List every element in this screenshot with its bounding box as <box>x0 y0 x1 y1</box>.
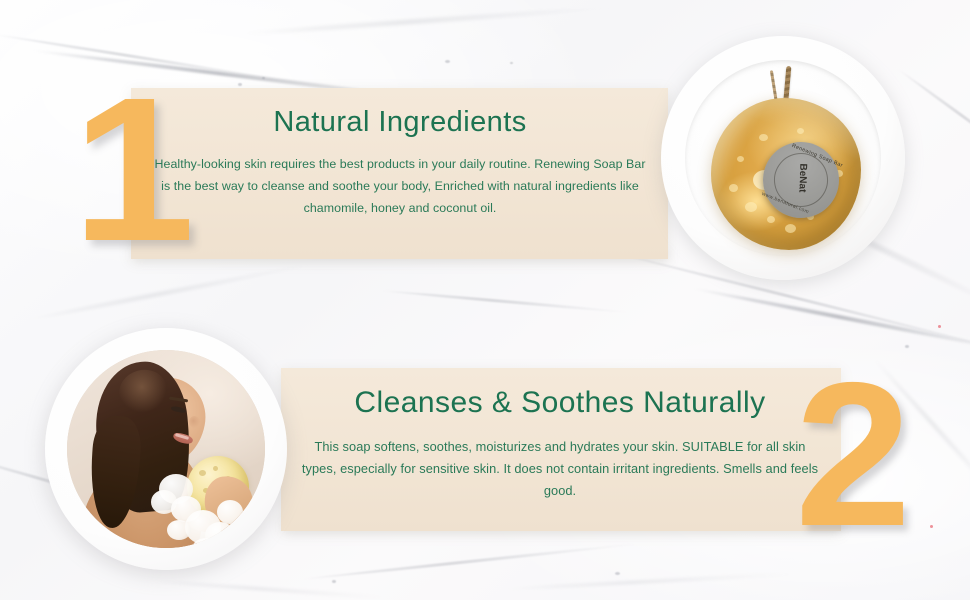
soap-foam <box>217 500 243 524</box>
section-1-text-block: Natural Ingredients Healthy-looking skin… <box>150 105 650 219</box>
section-1-body: Healthy-looking skin requires the best p… <box>150 153 650 219</box>
section-2-heading: Cleanses & Soothes Naturally <box>300 385 820 420</box>
soap-foam <box>227 526 249 546</box>
marble-speck <box>238 83 242 86</box>
marble-speck <box>332 580 336 583</box>
woman-shower-photo <box>45 328 287 570</box>
infographic-canvas: 1 Natural Ingredients Healthy-looking sk… <box>0 0 970 600</box>
marble-pink-speck <box>930 525 933 528</box>
section-2-text-block: Cleanses & Soothes Naturally This soap s… <box>300 385 820 502</box>
marble-speck <box>262 77 265 79</box>
soap-foam <box>167 520 191 540</box>
soap-foam <box>193 538 221 548</box>
section-1-heading: Natural Ingredients <box>150 105 650 139</box>
woman-nose <box>189 416 200 428</box>
section-2-body: This soap softens, soothes, moisturizes … <box>300 436 820 502</box>
marble-pink-speck <box>938 325 941 328</box>
marble-speck <box>510 62 513 64</box>
marble-speck <box>445 60 450 63</box>
photo-disc <box>67 350 265 548</box>
soap-bar-photo: Renewing Soap Bar BeNat www.benatural.co… <box>655 30 913 288</box>
marble-speck <box>615 572 620 575</box>
shower-scene <box>67 350 265 548</box>
